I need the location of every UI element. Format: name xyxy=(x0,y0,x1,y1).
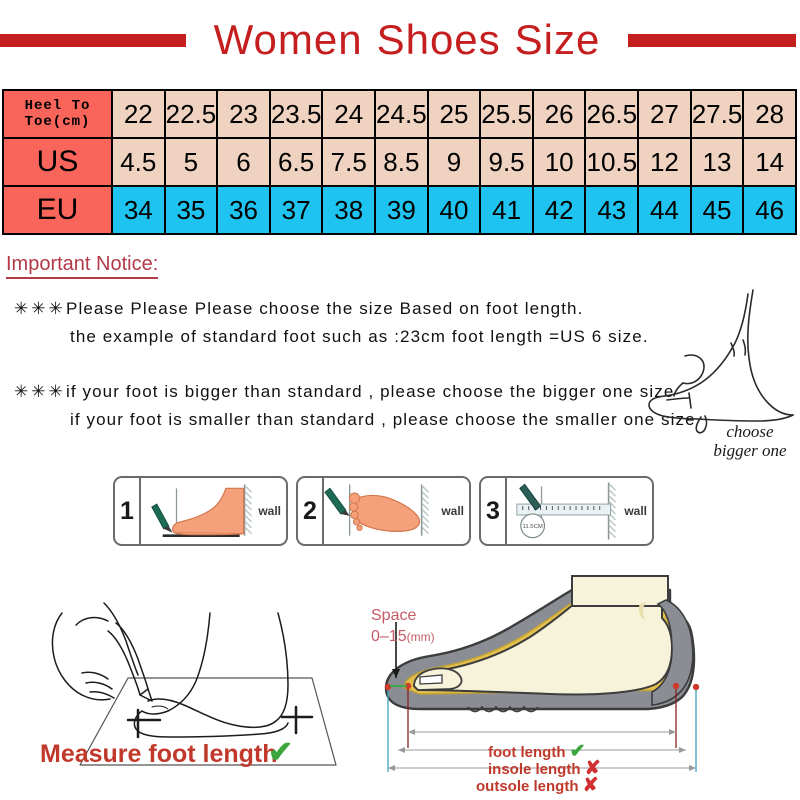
cell-eu-11: 45 xyxy=(691,186,744,234)
row-header-heel-to-toe: Heel To Toe(cm) xyxy=(3,90,112,138)
outsole-length-cross-icon: ✘ xyxy=(583,775,599,796)
notice-block-2: ✳✳✳if your foot is bigger than standard … xyxy=(14,378,696,434)
title-rule-left xyxy=(0,34,186,47)
notice-text-1: Please Please Please choose the size Bas… xyxy=(66,299,583,318)
cell-us-0: 4.5 xyxy=(112,138,165,186)
row-header-us: US xyxy=(3,138,112,186)
ruler-reading-text: 11.5CM xyxy=(523,524,543,530)
space-label-line-2: 0–15(mm) xyxy=(371,626,435,648)
choose-bigger-line-1: choose xyxy=(690,422,800,441)
cell-us-7: 9.5 xyxy=(480,138,533,186)
space-label-line-1: Space xyxy=(371,605,435,626)
page-title: WomenShoesSize xyxy=(186,12,628,68)
cell-cm-9: 26.5 xyxy=(585,90,638,138)
cell-eu-9: 43 xyxy=(585,186,638,234)
table-row-us: US 4.5 5 6 6.5 7.5 8.5 9 9.5 10 10.5 12 … xyxy=(3,138,796,186)
cell-cm-10: 27 xyxy=(638,90,691,138)
step-number-1: 1 xyxy=(115,478,141,544)
wall-label-3: wall xyxy=(624,504,647,518)
page-title-band: WomenShoesSize xyxy=(0,18,800,70)
cell-eu-3: 37 xyxy=(270,186,323,234)
cell-eu-2: 36 xyxy=(217,186,270,234)
choose-bigger-caption: choose bigger one xyxy=(690,422,800,460)
asterisk-icon-2: ✳✳✳ xyxy=(14,378,66,406)
cell-us-3: 6.5 xyxy=(270,138,323,186)
step-number-3: 3 xyxy=(481,478,507,544)
cell-us-9: 10.5 xyxy=(585,138,638,186)
cell-us-11: 13 xyxy=(691,138,744,186)
outsole-length-text: outsole length xyxy=(476,778,579,795)
cell-eu-6: 40 xyxy=(428,186,481,234)
notice-line-4: if your foot is smaller than standard , … xyxy=(14,406,696,434)
shoe-size-table: Heel To Toe(cm) 22 22.5 23 23.5 24 24.5 … xyxy=(2,89,797,235)
measure-foot-length-label: Measure foot length xyxy=(40,740,278,769)
notice-text-3: if your foot is bigger than standard , p… xyxy=(66,382,674,401)
notice-line-3: ✳✳✳if your foot is bigger than standard … xyxy=(14,378,696,406)
step-panel-3: 3 xyxy=(479,476,654,546)
green-check-icon: ✔ xyxy=(268,735,293,770)
cell-eu-10: 44 xyxy=(638,186,691,234)
step-panel-1: 1 wall xyxy=(113,476,288,546)
wall-label-1: wall xyxy=(258,504,281,518)
page-title-word-1: Women xyxy=(214,16,363,63)
foot-profile-sketch-icon xyxy=(645,288,800,438)
cell-cm-11: 27.5 xyxy=(691,90,744,138)
notice-line-2: the example of standard foot such as :23… xyxy=(14,323,649,351)
cell-cm-1: 22.5 xyxy=(165,90,218,138)
notice-text-4: if your foot is smaller than standard , … xyxy=(70,410,696,429)
cell-us-6: 9 xyxy=(428,138,481,186)
cell-eu-4: 38 xyxy=(322,186,375,234)
cell-us-5: 8.5 xyxy=(375,138,428,186)
important-notice-heading: Important Notice: xyxy=(6,252,158,279)
cell-us-10: 12 xyxy=(638,138,691,186)
cell-cm-12: 28 xyxy=(743,90,796,138)
cell-cm-8: 26 xyxy=(533,90,586,138)
notice-block-1: ✳✳✳Please Please Please choose the size … xyxy=(14,295,649,351)
cell-cm-0: 22 xyxy=(112,90,165,138)
cell-eu-5: 39 xyxy=(375,186,428,234)
choose-bigger-line-2: bigger one xyxy=(690,441,800,460)
wall-label-2: wall xyxy=(441,504,464,518)
asterisk-icon: ✳✳✳ xyxy=(14,295,66,323)
table-row-eu: EU 34 35 36 37 38 39 40 41 42 43 44 45 4… xyxy=(3,186,796,234)
row-header-eu: EU xyxy=(3,186,112,234)
cell-eu-0: 34 xyxy=(112,186,165,234)
page-title-word-3: Size xyxy=(515,16,601,63)
cell-us-4: 7.5 xyxy=(322,138,375,186)
notice-text-2: the example of standard foot such as :23… xyxy=(70,327,649,346)
space-value: 0–15 xyxy=(371,628,407,645)
cell-us-12: 14 xyxy=(743,138,796,186)
cell-cm-5: 24.5 xyxy=(375,90,428,138)
outsole-length-label: outsole length ✘ xyxy=(476,774,599,797)
cell-cm-3: 23.5 xyxy=(270,90,323,138)
cell-cm-6: 25 xyxy=(428,90,481,138)
title-rule-right xyxy=(628,34,796,47)
cell-cm-4: 24 xyxy=(322,90,375,138)
notice-line-1: ✳✳✳Please Please Please choose the size … xyxy=(14,295,649,323)
cell-eu-12: 46 xyxy=(743,186,796,234)
step-number-2: 2 xyxy=(298,478,324,544)
cell-eu-1: 35 xyxy=(165,186,218,234)
space-callout-label: Space 0–15(mm) xyxy=(371,605,435,648)
cell-us-1: 5 xyxy=(165,138,218,186)
cell-us-2: 6 xyxy=(217,138,270,186)
table-row-heel-to-toe: Heel To Toe(cm) 22 22.5 23 23.5 24 24.5 … xyxy=(3,90,796,138)
cell-us-8: 10 xyxy=(533,138,586,186)
cell-eu-8: 42 xyxy=(533,186,586,234)
cell-cm-7: 25.5 xyxy=(480,90,533,138)
step-panel-2: 2 wall xyxy=(296,476,471,546)
cell-cm-2: 23 xyxy=(217,90,270,138)
cell-eu-7: 41 xyxy=(480,186,533,234)
page-title-word-2: Shoes xyxy=(377,16,501,63)
space-unit: (mm) xyxy=(407,630,435,644)
